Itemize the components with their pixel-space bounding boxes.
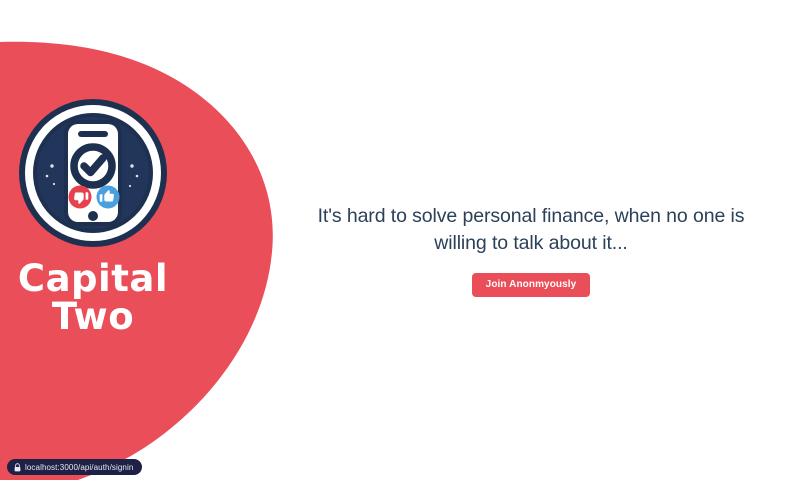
lock-icon <box>14 463 21 472</box>
hero-cta-row: Join Anonmyously <box>300 273 762 297</box>
thumbs-down-icon <box>69 186 92 209</box>
join-anonymously-button[interactable]: Join Anonmyously <box>472 273 591 297</box>
brand-wordmark: Capital Two <box>3 260 183 336</box>
status-bar-url-text: localhost:3000/api/auth/signin <box>25 463 133 472</box>
thumbs-up-icon <box>97 186 120 209</box>
status-bar-url: localhost:3000/api/auth/signin <box>7 459 142 475</box>
hero-headline: It's hard to solve personal finance, whe… <box>300 203 762 257</box>
phone-check-reactions-icon <box>18 98 168 248</box>
hero-section: It's hard to solve personal finance, whe… <box>300 203 762 297</box>
brand-block: Capital Two <box>0 98 186 336</box>
brand-name-line-2: Two <box>3 298 183 336</box>
brand-name-line-1: Capital <box>3 260 183 298</box>
page-root: Capital Two It's hard to solve personal … <box>0 0 806 480</box>
